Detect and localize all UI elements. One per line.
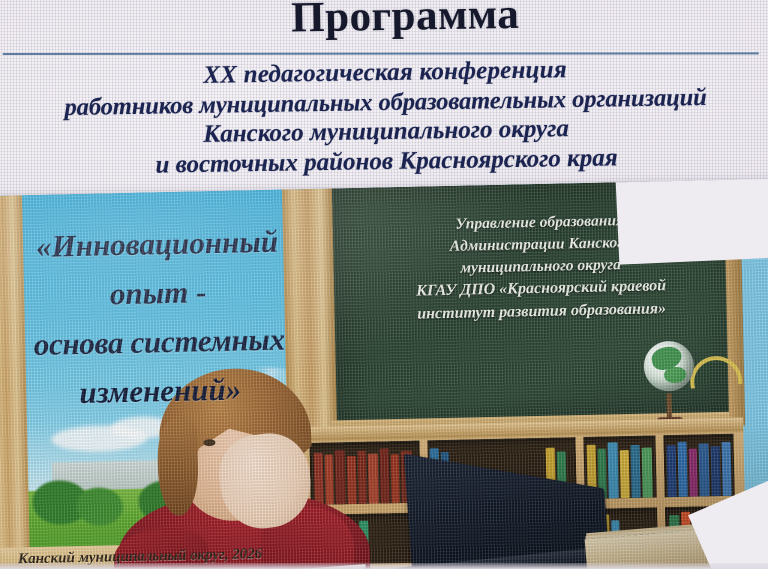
book [608,442,619,498]
book [620,450,630,498]
slide-photo-screenshot: Программа XX педагогическая конференция … [0,0,768,569]
book [368,454,379,504]
globe-stand [666,393,672,419]
book [642,448,653,498]
quote-line-2: опыт - [8,266,309,322]
quote-line-1: «Инновационный [7,217,308,273]
slide-illustration: Управление образования Администрации Кан… [0,179,768,569]
book [711,446,721,496]
photo-corner-mask-top-right [613,179,768,265]
book [347,456,357,504]
book [314,453,324,505]
book [631,445,641,498]
book [689,449,698,497]
subtitle-block: XX педагогическая конференция работников… [1,52,768,183]
book [380,448,390,503]
book [325,454,334,504]
bookshelf-cubby [663,434,734,498]
book [667,445,677,497]
quote-line-3: основа системных [9,315,310,371]
book [335,450,346,504]
book [678,442,688,497]
quote-block: «Инновационный опыт - основа системных и… [7,217,311,419]
book [391,454,400,503]
tree [76,487,123,526]
book [699,443,710,496]
quote-line-4: изменений» [10,364,311,420]
page-title: Программа [0,0,768,47]
book [722,442,732,496]
bottom-edge [0,563,768,569]
book [358,451,367,504]
